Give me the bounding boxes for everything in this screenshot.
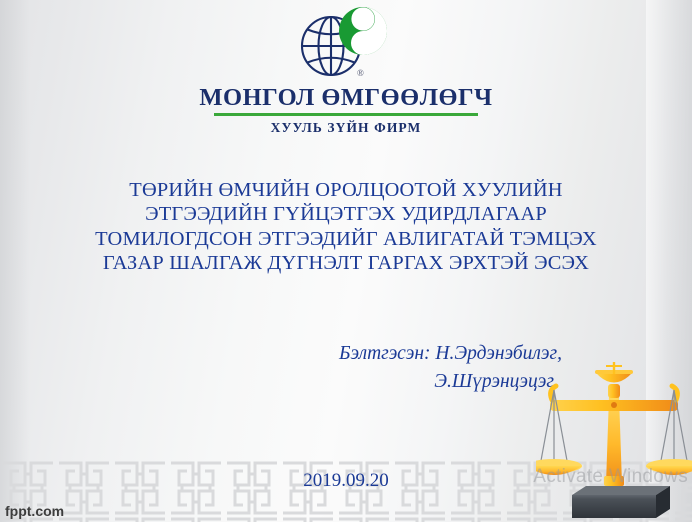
presenter-line-1: Бэлтгэсэн: Н.Эрдэнэбилэг, [150,340,562,368]
slide-title: ТӨРИЙН ӨМЧИЙН ОРОЛЦООТОЙ ХУУЛИЙН ЭТГЭЭДИ… [20,178,672,275]
logo-company-subtitle: ХУУЛЬ ЗҮЙН ФИРМ [0,120,692,136]
logo-company-name: МОНГОЛ ӨМГӨӨЛӨГЧ [0,86,692,111]
scales-finial [595,362,633,398]
title-line-2: ЭТГЭЭДИЙН ГҮЙЦЭТГЭХ УДИРДЛАГААР [20,202,672,226]
activate-windows-watermark: Activate Windows [533,466,688,488]
title-line-3: ТОМИЛОГДСОН ЭТГЭЭДИЙГ АВЛИГАТАЙ ТЭМЦЭХ [20,227,672,251]
title-line-1: ТӨРИЙН ӨМЧИЙН ОРОЛЦООТОЙ ХУУЛИЙН [20,178,672,202]
registered-trademark-icon: ® [357,68,364,78]
logo-mark: ® [281,6,411,84]
presenter-line-2: Э.Шүрэнцэцэг [150,368,562,396]
presentation-slide: ® МОНГОЛ ӨМГӨӨЛӨГЧ ХУУЛЬ ЗҮЙН ФИРМ ТӨРИЙ… [0,0,692,522]
title-line-4: ГАЗАР ШАЛГАЖ ДҮГНЭЛТ ГАРГАХ ЭРХТЭЙ ЭСЭХ [20,251,672,275]
green-circle-yin-yang-icon [339,7,387,55]
scales-of-justice-icon [536,356,692,522]
presenter-credit: Бэлтгэсэн: Н.Эрдэнэбилэг, Э.Шүрэнцэцэг [150,340,562,396]
fppt-watermark: fppt.com [5,503,64,519]
company-logo-block: ® МОНГОЛ ӨМГӨӨЛӨГЧ ХУУЛЬ ЗҮЙН ФИРМ [0,6,692,136]
logo-green-rule [214,113,478,116]
